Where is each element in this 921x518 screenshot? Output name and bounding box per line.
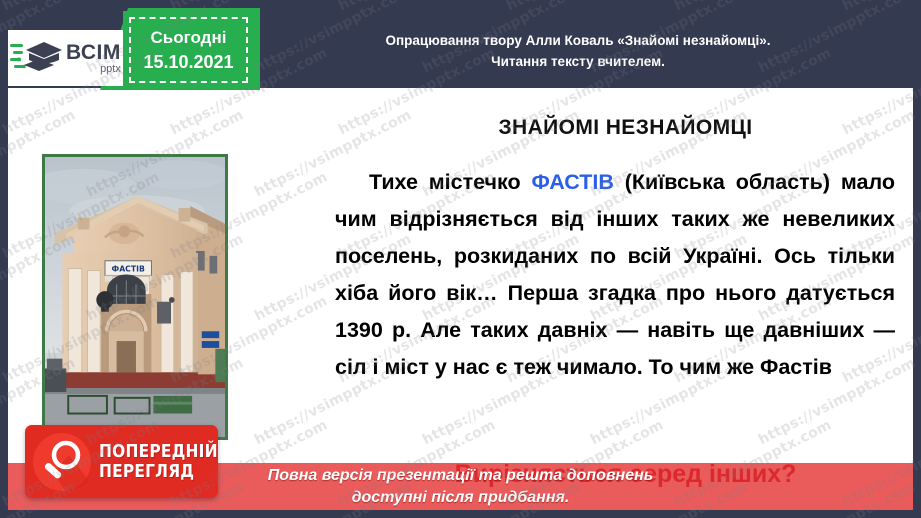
preview-badge-line1: ПОПЕРЕДНІЙ [99, 442, 218, 462]
header-title-line2: Читання тексту вчителем. [288, 51, 868, 72]
date-badge-content: Сьогодні 15.10.2021 [123, 11, 254, 89]
presentation-slide: ФАСТІВ [0, 0, 921, 518]
content-body: Тихе містечко ФАСТІВ (Київська область) … [335, 164, 895, 386]
header-title: Опрацювання твору Алли Коваль «Знайомі н… [288, 30, 868, 72]
preview-badge-line2: ПЕРЕГЛЯД [99, 462, 218, 482]
brand-name: ВСІМ [66, 42, 121, 63]
banner-line2: доступні після придбання. [352, 487, 570, 509]
date-badge-value: 15.10.2021 [143, 50, 233, 75]
preview-badge-text: ПОПЕРЕДНІЙ ПЕРЕГЛЯД [99, 442, 218, 482]
slide-image-fastiv-station: ФАСТІВ [42, 154, 228, 440]
header-title-line1: Опрацювання твору Алли Коваль «Знайомі н… [386, 33, 771, 48]
body-paragraph: Тихе містечко ФАСТІВ (Київська область) … [335, 164, 895, 386]
content-title: ЗНАЙОМІ НЕЗНАЙОМЦІ [338, 116, 913, 140]
slide-canvas: ФАСТІВ [8, 8, 913, 510]
brand-logo-text: ВСІМ pptx [66, 42, 121, 75]
body-text-part2: (Київська область) мало чим відрізняєтьс… [335, 170, 895, 379]
magnifier-icon [31, 431, 93, 493]
date-badge-label: Сьогодні [151, 25, 227, 50]
preview-badge[interactable]: ПОПЕРЕДНІЙ ПЕРЕГЛЯД [25, 425, 218, 498]
body-text-part1: Тихе містечко [369, 170, 531, 194]
svg-text:ФАСТІВ: ФАСТІВ [112, 265, 145, 274]
banner-line1: Повна версія презентації та решта доповн… [268, 465, 654, 487]
graduation-cap-icon [10, 38, 64, 78]
brand-subtitle: pptx [66, 64, 121, 75]
station-photo-graphic: ФАСТІВ [45, 157, 225, 437]
body-accent-word: ФАСТІВ [531, 170, 613, 194]
today-date-badge: Сьогодні 15.10.2021 [123, 11, 254, 89]
